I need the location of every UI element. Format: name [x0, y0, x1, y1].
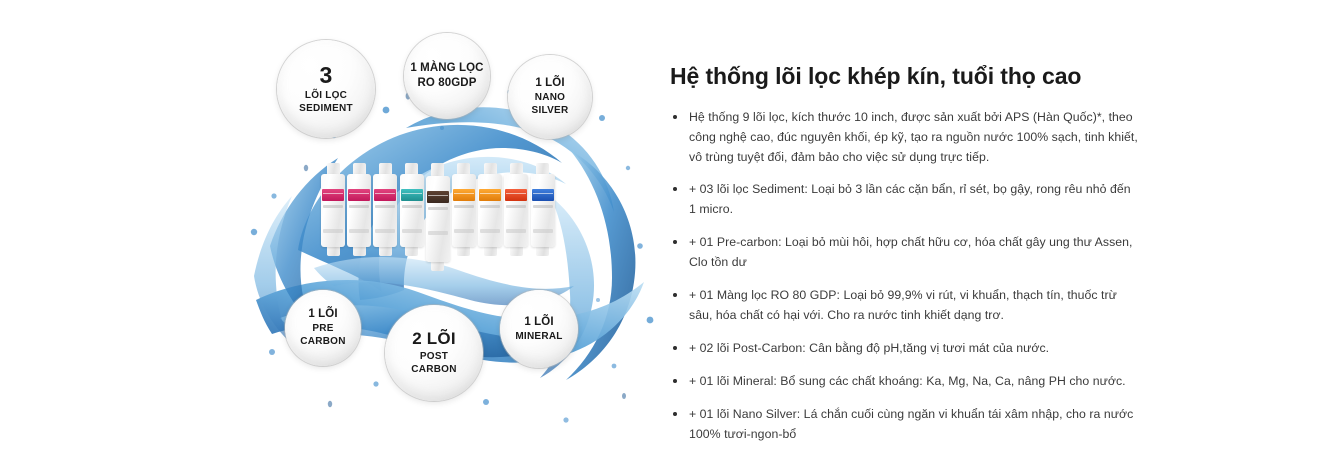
cartridge-strip — [480, 205, 500, 208]
cartridge-body — [531, 174, 555, 247]
cartridge-foot — [405, 247, 418, 256]
list-item-text: + 01 lõi Nano Silver: Lá chắn cuối cùng … — [689, 407, 1133, 441]
cartridge-body — [426, 176, 450, 262]
bubble-line1: 1 MÀNG LỌC — [410, 61, 483, 76]
cartridge-label — [479, 189, 501, 201]
bubble-line1: NANO — [535, 91, 565, 104]
page-title: Hệ thống lõi lọc khép kín, tuổi thọ cao — [670, 62, 1140, 91]
cartridge-pre-carbon — [400, 163, 424, 256]
cartridge-foot — [484, 247, 497, 256]
cartridge-foot — [457, 247, 470, 256]
cartridge-cap — [327, 163, 340, 174]
list-item: + 01 Pre-carbon: Loại bỏ mùi hôi, hợp ch… — [670, 233, 1140, 273]
cartridge-foot — [510, 247, 523, 256]
list-item-text: + 03 lõi lọc Sediment: Loại bỏ 3 lần các… — [689, 182, 1131, 216]
list-item: + 03 lõi lọc Sediment: Loại bỏ 3 lần các… — [670, 180, 1140, 220]
cartridge-cap — [353, 163, 366, 174]
cartridge-cap — [510, 163, 523, 174]
cartridge-cap — [457, 163, 470, 174]
cartridge-foot — [353, 247, 366, 256]
cartridge-cap — [431, 163, 444, 176]
bullet-dot-icon — [673, 412, 677, 416]
cartridge-strip — [454, 205, 474, 208]
cartridge-strip — [533, 229, 553, 233]
bullet-dot-icon — [673, 346, 677, 350]
bullet-dot-icon — [673, 187, 677, 191]
bubble-post-carbon: 2 LÕI POST CARBON — [385, 305, 483, 401]
cartridge-label — [427, 191, 449, 203]
list-item-text: + 01 lõi Mineral: Bổ sung các chất khoán… — [689, 374, 1126, 388]
bubble-line1: LÕI LỌC — [305, 89, 347, 102]
list-item: + 02 lõi Post-Carbon: Cân bằng độ pH,tăn… — [670, 339, 1140, 359]
list-item-text: + 01 Màng lọc RO 80 GDP: Loại bỏ 99,9% v… — [689, 288, 1117, 322]
bubble-count: 1 LÕI — [524, 315, 553, 330]
cartridge-body — [504, 174, 528, 247]
cartridge-label — [348, 189, 370, 201]
bubble-count: 1 LÕI — [308, 307, 337, 322]
cartridge-cap — [484, 163, 497, 174]
bullet-dot-icon — [673, 293, 677, 297]
bubble-ro-membrane: 1 MÀNG LỌC RO 80GDP — [404, 33, 490, 119]
cartridge-label — [532, 189, 554, 201]
cartridge-strip — [323, 229, 343, 233]
cartridge-foot — [431, 262, 444, 271]
list-item: + 01 lõi Nano Silver: Lá chắn cuối cùng … — [670, 405, 1140, 445]
cartridge-body — [400, 174, 424, 247]
feature-text-column: Hệ thống lõi lọc khép kín, tuổi thọ cao … — [670, 0, 1140, 454]
cartridge-cap — [405, 163, 418, 174]
cartridge-strip — [428, 231, 448, 235]
bubble-nano-silver: 1 LÕI NANO SILVER — [508, 55, 592, 139]
cartridge-strip — [506, 229, 526, 233]
list-item: + 01 lõi Mineral: Bổ sung các chất khoán… — [670, 372, 1140, 392]
product-feature-banner: 3 LÕI LỌC SEDIMENT 1 MÀNG LỌC RO 80GDP 1… — [0, 0, 1337, 454]
cartridge-post-carbon-2 — [478, 163, 502, 256]
cartridge-strip — [402, 205, 422, 208]
filter-cartridge-row — [321, 163, 565, 263]
bubble-line2: CARBON — [300, 335, 345, 348]
cartridge-strip — [533, 205, 553, 208]
bubble-line1: POST — [420, 350, 448, 363]
bubble-count: 2 LÕI — [412, 330, 456, 348]
cartridge-foot — [379, 247, 392, 256]
cartridge-sediment-2 — [347, 163, 371, 256]
bubble-sediment: 3 LÕI LỌC SEDIMENT — [277, 40, 375, 138]
bullet-dot-icon — [673, 240, 677, 244]
cartridge-strip — [480, 229, 500, 233]
cartridge-strip — [375, 205, 395, 208]
bubble-line2: SEDIMENT — [299, 102, 353, 115]
bullet-dot-icon — [673, 379, 677, 383]
cartridge-cap — [536, 163, 549, 174]
cartridge-strip — [454, 229, 474, 233]
cartridge-ro-membrane — [426, 163, 450, 271]
bubble-pre-carbon: 1 LÕI PRE CARBON — [285, 290, 361, 366]
cartridge-body — [347, 174, 371, 247]
cartridge-strip — [349, 229, 369, 233]
bubble-count: 1 LÕI — [535, 76, 564, 91]
cartridge-cap — [379, 163, 392, 174]
list-item-text: Hệ thống 9 lõi lọc, kích thước 10 inch, … — [689, 110, 1138, 164]
bubble-line2: CARBON — [411, 363, 456, 376]
list-item-text: + 02 lõi Post-Carbon: Cân bằng độ pH,tăn… — [689, 341, 1049, 355]
cartridge-strip — [375, 229, 395, 233]
bullet-dot-icon — [673, 115, 677, 119]
cartridge-strip — [428, 207, 448, 210]
cartridge-body — [452, 174, 476, 247]
bubble-line1: MINERAL — [515, 330, 562, 343]
cartridge-body — [478, 174, 502, 247]
cartridge-strip — [349, 205, 369, 208]
bubble-count: 3 — [320, 63, 333, 87]
list-item: Hệ thống 9 lõi lọc, kích thước 10 inch, … — [670, 108, 1140, 168]
filter-system-graphic: 3 LÕI LỌC SEDIMENT 1 MÀNG LỌC RO 80GDP 1… — [210, 0, 670, 454]
cartridge-body — [321, 174, 345, 247]
cartridge-strip — [506, 205, 526, 208]
cartridge-body — [373, 174, 397, 247]
cartridge-post-carbon-1 — [452, 163, 476, 256]
cartridge-label — [453, 189, 475, 201]
cartridge-sediment-3 — [373, 163, 397, 256]
feature-bullet-list: Hệ thống 9 lõi lọc, kích thước 10 inch, … — [670, 108, 1140, 445]
cartridge-label — [505, 189, 527, 201]
bubble-line2: RO 80GDP — [418, 76, 477, 91]
bubble-mineral: 1 LÕI MINERAL — [500, 290, 578, 368]
cartridge-nano-silver — [531, 163, 555, 256]
bubble-line1: PRE — [312, 322, 333, 335]
cartridge-mineral — [504, 163, 528, 256]
cartridge-strip — [402, 229, 422, 233]
cartridge-foot — [327, 247, 340, 256]
cartridge-sediment-1 — [321, 163, 345, 256]
cartridge-label — [322, 189, 344, 201]
list-item: + 01 Màng lọc RO 80 GDP: Loại bỏ 99,9% v… — [670, 286, 1140, 326]
cartridge-label — [401, 189, 423, 201]
cartridge-strip — [323, 205, 343, 208]
bubble-line2: SILVER — [532, 104, 569, 117]
list-item-text: + 01 Pre-carbon: Loại bỏ mùi hôi, hợp ch… — [689, 235, 1132, 269]
cartridge-foot — [536, 247, 549, 256]
cartridge-label — [374, 189, 396, 201]
